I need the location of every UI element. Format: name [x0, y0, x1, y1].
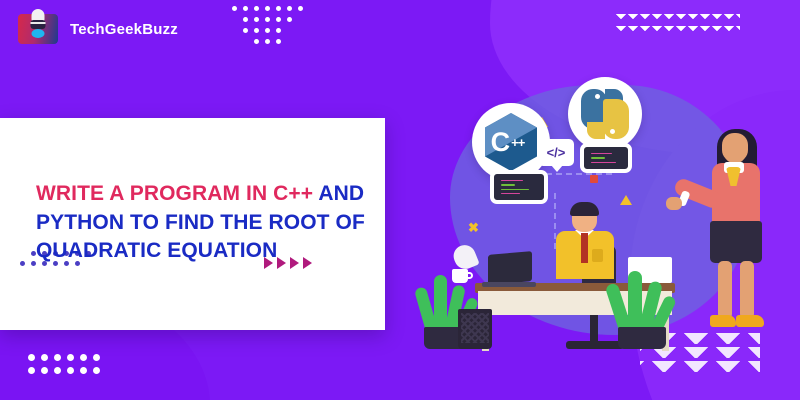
standing-manager — [700, 133, 776, 333]
waste-bin — [458, 309, 492, 349]
cpp-c-glyph: C — [491, 129, 511, 156]
python-logo-icon — [568, 77, 642, 151]
page-title-highlight: Write a Program in C++ — [36, 182, 313, 205]
accent-triangle-2 — [620, 195, 632, 205]
hero-illustration: ✖ ✖ C ++ </> — [430, 55, 800, 355]
python-glyph — [579, 88, 631, 140]
brand-name: TechGeekBuzz — [70, 21, 178, 38]
code-snippet-bubble-right — [580, 143, 632, 173]
dot-pattern-top-center — [232, 6, 309, 50]
title-card: Write a Program in C++ and Python to Fin… — [0, 118, 385, 330]
laptop — [488, 251, 532, 285]
potted-plant-right — [608, 267, 678, 349]
cpp-plus-glyph: ++ — [511, 135, 524, 150]
brand-logo[interactable]: TechGeekBuzz — [18, 14, 178, 44]
accent-cross-icon: ✖ — [468, 223, 478, 233]
dot-pattern-bottom-left — [28, 354, 106, 380]
zigzag-pattern-top-right — [615, 14, 740, 36]
banner-root: TechGeekBuzz Write a Program in C++ and … — [0, 0, 800, 400]
code-snippet-bubble-left — [490, 170, 548, 204]
techgeekbuzz-logo-icon — [18, 14, 58, 44]
laptop-base — [482, 282, 536, 287]
code-tag-icon: </> — [538, 139, 574, 166]
page-title: Write a Program in C++ and Python to Fin… — [36, 180, 367, 266]
cpp-hexagon: C ++ — [485, 113, 537, 171]
accent-square — [590, 175, 598, 183]
